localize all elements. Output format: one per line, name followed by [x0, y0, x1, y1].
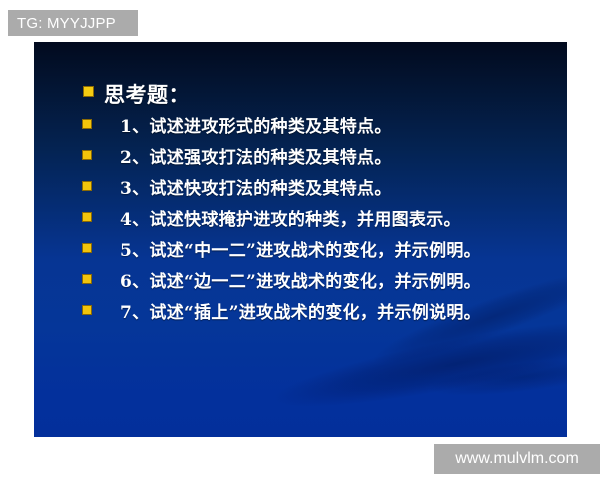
slide-title-row: 思考题： [34, 78, 567, 109]
list-item: 7、试述“插上”进攻战术的变化，并示例说明。 [34, 295, 567, 326]
list-item: 2、试述强攻打法的种类及其特点。 [34, 140, 567, 171]
list-item: 4、试述快球掩护进攻的种类，并用图表示。 [34, 202, 567, 233]
list-item-label: 3、试述快攻打法的种类及其特点。 [120, 174, 392, 199]
square-bullet-icon [82, 181, 92, 191]
square-bullet-icon [82, 150, 92, 160]
square-bullet-icon [82, 243, 92, 253]
square-bullet-icon [82, 212, 92, 222]
watermark-label: www.mulvlm.com [455, 451, 579, 467]
bullet-list: 思考题： 1、试述进攻形式的种类及其特点。 2、试述强攻打法的种类及其特点。 3… [34, 78, 567, 326]
swoosh-decoration-tertiary-icon [414, 320, 567, 435]
list-item-label: 5、试述“中一二”进攻战术的变化，并示例明。 [120, 236, 481, 261]
list-item-label: 2、试述强攻打法的种类及其特点。 [120, 143, 392, 168]
list-item: 1、试述进攻形式的种类及其特点。 [34, 109, 567, 140]
square-bullet-icon [82, 274, 92, 284]
tag-badge: TG: MYYJJPP [8, 10, 138, 36]
square-bullet-icon [83, 86, 94, 97]
tag-badge-label: TG: MYYJJPP [8, 16, 116, 31]
list-item-label: 1、试述进攻形式的种类及其特点。 [120, 112, 392, 137]
list-item: 6、试述“边一二”进攻战术的变化，并示例明。 [34, 264, 567, 295]
list-item-label: 4、试述快球掩护进攻的种类，并用图表示。 [120, 205, 461, 230]
list-item-label: 7、试述“插上”进攻战术的变化，并示例说明。 [120, 298, 481, 323]
list-item-label: 6、试述“边一二”进攻战术的变化，并示例明。 [120, 267, 481, 292]
watermark-badge: www.mulvlm.com [434, 444, 600, 474]
list-item: 5、试述“中一二”进攻战术的变化，并示例明。 [34, 233, 567, 264]
slide-title: 思考题： [104, 79, 190, 109]
square-bullet-icon [82, 119, 92, 129]
presentation-slide: 思考题： 1、试述进攻形式的种类及其特点。 2、试述强攻打法的种类及其特点。 3… [34, 42, 567, 437]
square-bullet-icon [82, 305, 92, 315]
list-item: 3、试述快攻打法的种类及其特点。 [34, 171, 567, 202]
